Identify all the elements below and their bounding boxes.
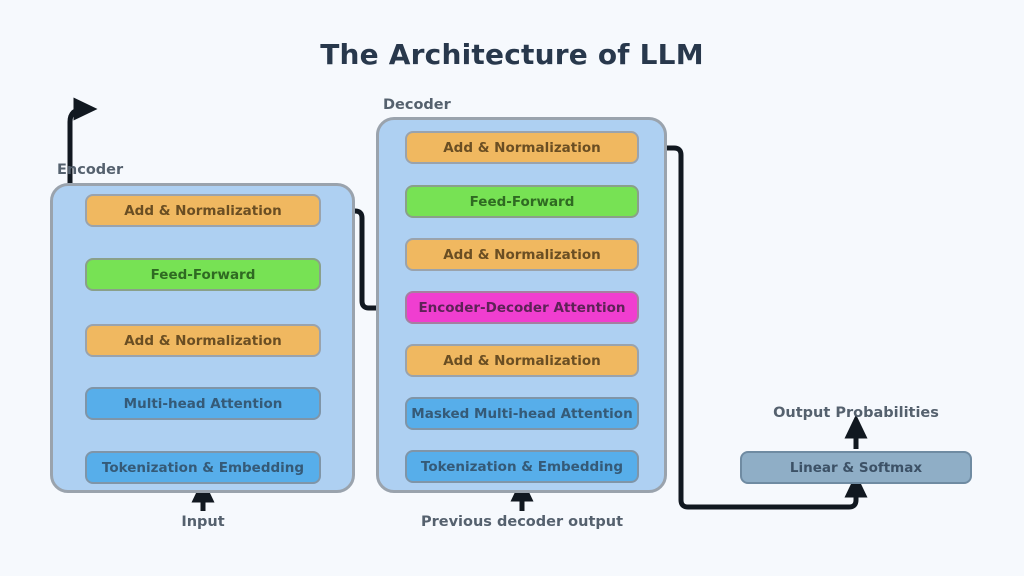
encoder-multi-head-attention-block[interactable]: Multi-head Attention: [85, 387, 321, 420]
page-title: The Architecture of LLM: [0, 38, 1024, 71]
encoder-feed-forward-block[interactable]: Feed-Forward: [85, 258, 321, 291]
decoder-feed-forward-block[interactable]: Feed-Forward: [405, 185, 639, 218]
encoder-input-caption: Input: [103, 514, 303, 530]
decoder-tokenization-embedding-block[interactable]: Tokenization & Embedding: [405, 450, 639, 483]
encoder-add-normalization-2-block[interactable]: Add & Normalization: [85, 194, 321, 227]
decoder-masked-multi-head-attention-block[interactable]: Masked Multi-head Attention: [405, 397, 639, 430]
decoder-add-normalization-2-block[interactable]: Add & Normalization: [405, 238, 639, 271]
decoder-input-caption: Previous decoder output: [402, 514, 642, 530]
diagram-canvas: The Architecture of LLM: [0, 0, 1024, 576]
output-probabilities-caption: Output Probabilities: [736, 405, 976, 421]
decoder-encoder-decoder-attention-block[interactable]: Encoder-Decoder Attention: [405, 291, 639, 324]
decoder-stack-label: Decoder: [383, 97, 451, 113]
encoder-add-normalization-1-block[interactable]: Add & Normalization: [85, 324, 321, 357]
encoder-stack-label: Encoder: [57, 162, 123, 178]
decoder-add-normalization-1-block[interactable]: Add & Normalization: [405, 344, 639, 377]
decoder-add-normalization-3-block[interactable]: Add & Normalization: [405, 131, 639, 164]
linear-softmax-block[interactable]: Linear & Softmax: [740, 451, 972, 484]
encoder-tokenization-embedding-block[interactable]: Tokenization & Embedding: [85, 451, 321, 484]
